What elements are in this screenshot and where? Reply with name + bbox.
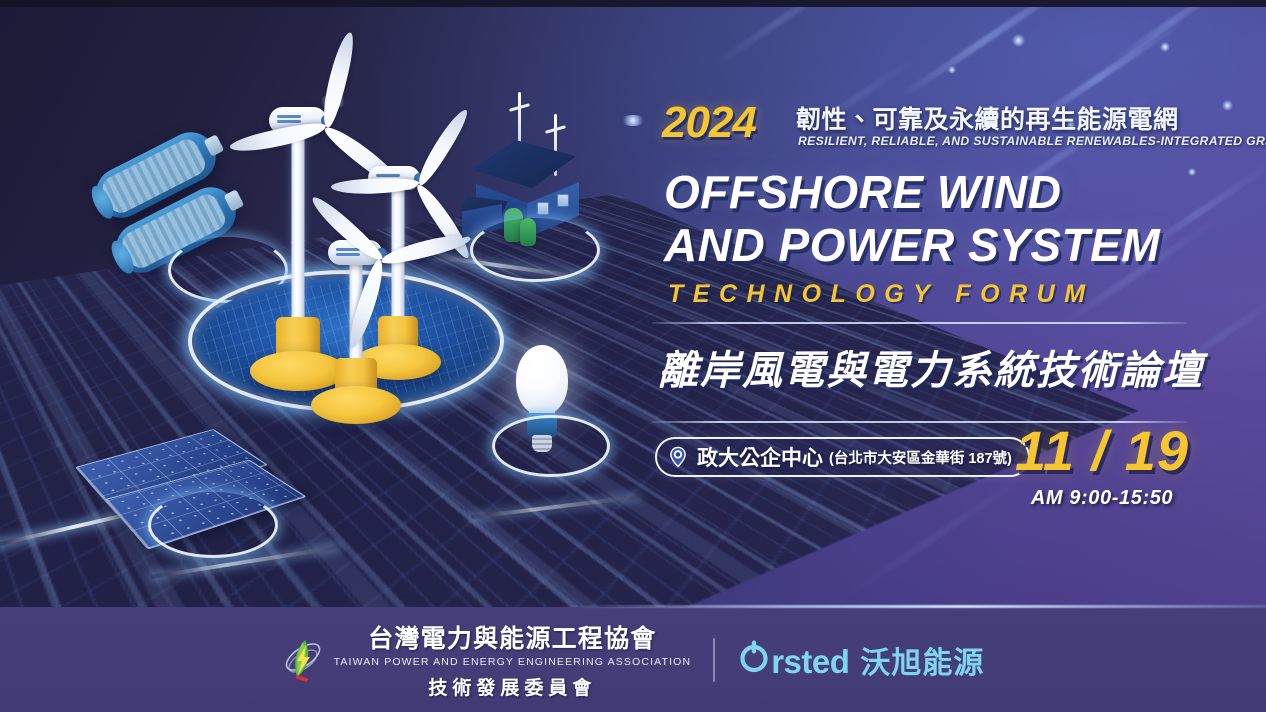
tpeea-logo[interactable]: 台灣電力與能源工程協會 TAIWAN POWER AND ENERGY ENGI…: [282, 619, 692, 700]
turbine-blade: [331, 177, 419, 195]
bulb-glass: [516, 345, 568, 415]
schedule-block: 11 / 19 AM 9:00-15:50: [997, 418, 1207, 510]
kicker-headline-en: RESILIENT, RELIABLE, AND SUSTAINABLE REN…: [798, 134, 1266, 148]
solar-glow-ring: [148, 492, 278, 558]
venue-address: (台北市大安區金華街 187號): [829, 447, 1012, 468]
event-date: 11 / 19: [997, 418, 1207, 483]
orsted-name-zh: 沃旭能源: [860, 638, 984, 682]
tpeea-name-zh: 台灣電力與能源工程協會: [368, 619, 656, 655]
top-edge-strip: [0, 0, 1266, 7]
event-copy: 2024 韌性、可靠及永續的再生能源電網 RESILIENT, RELIABLE…: [652, 0, 1212, 620]
event-title-subtitle: TECHNOLOGY FORUM: [668, 280, 1095, 309]
orsted-wordmark: rsted: [771, 643, 849, 681]
wind-turbine: [296, 208, 416, 438]
event-title: OFFSHORE WIND AND POWER SYSTEM: [664, 166, 1209, 272]
venue-name: 政大公企中心: [697, 442, 823, 472]
event-banner: 2024 韌性、可靠及永續的再生能源電網 RESILIENT, RELIABLE…: [0, 0, 1266, 712]
venue-pill[interactable]: 政大公企中心 (台北市大安區金華街 187號): [655, 437, 1030, 477]
event-year: 2024: [662, 98, 756, 148]
tpeea-name-en: TAIWAN POWER AND ENERGY ENGINEERING ASSO…: [334, 656, 692, 668]
house-window: [557, 194, 569, 207]
house-glow-ring: [470, 218, 600, 282]
divider-top: [652, 322, 1187, 324]
orsted-o-icon: [737, 639, 771, 673]
footer-bar: 台灣電力與能源工程協會 TAIWAN POWER AND ENERGY ENGI…: [0, 607, 1266, 712]
map-pin-icon: [667, 446, 689, 468]
event-title-line2: AND POWER SYSTEM: [664, 219, 1209, 272]
event-title-zh: 離岸風電與電力系統技術論壇: [658, 338, 1204, 396]
bulb-glow-ring: [492, 415, 610, 477]
tpeea-committee: 技術發展委員會: [428, 673, 596, 700]
house-roof: [472, 140, 576, 188]
orsted-logo[interactable]: rsted 沃旭能源: [737, 638, 984, 682]
turbine-base-disc: [311, 386, 401, 424]
footer-divider: [713, 638, 715, 682]
event-time: AM 9:00-15:50: [997, 487, 1207, 510]
turbine-blade: [318, 30, 358, 129]
kicker-headline-zh: 韌性、可靠及永續的再生能源電網: [796, 100, 1179, 136]
event-title-line1: OFFSHORE WIND: [664, 166, 1209, 219]
renewable-energy-illustration: [0, 0, 660, 620]
lightning-leaf-emblem-icon: [282, 637, 324, 683]
house-window: [537, 202, 549, 215]
kicker-block: 2024 韌性、可靠及永續的再生能源電網 RESILIENT, RELIABLE…: [662, 98, 1202, 154]
